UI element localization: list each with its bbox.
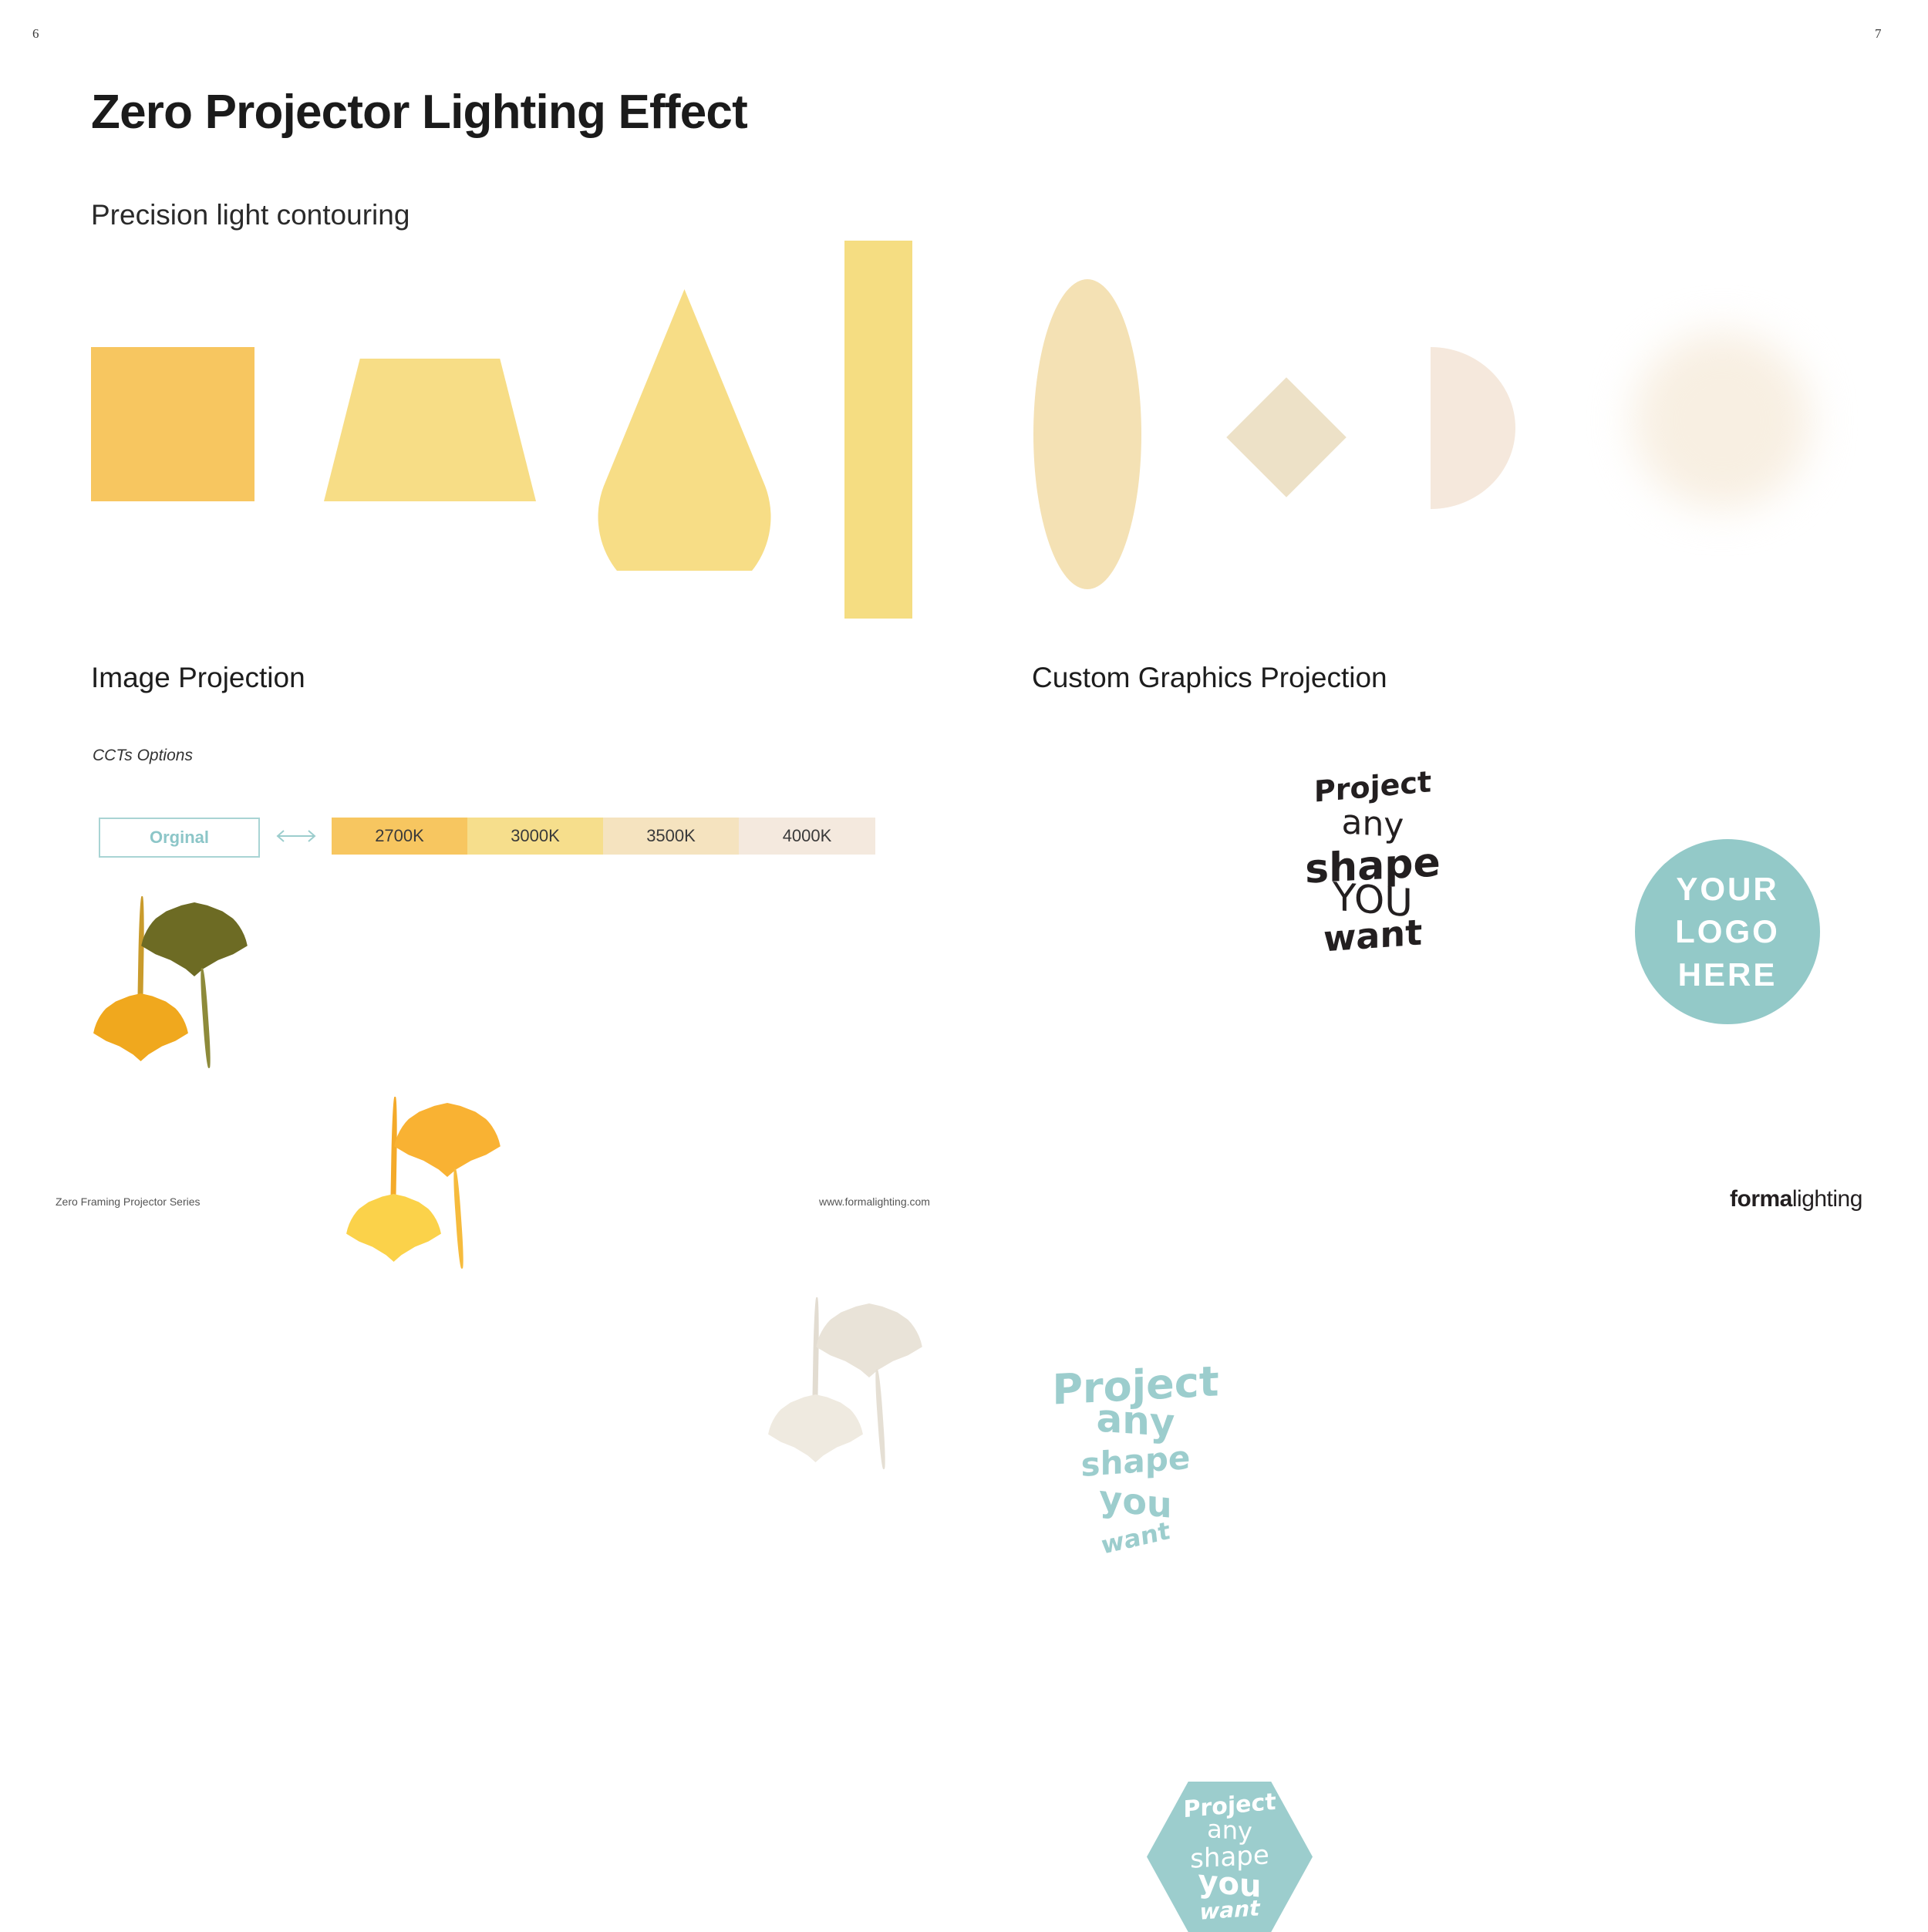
cct-option-label: 2700K	[375, 826, 424, 846]
cone-beam-shape	[598, 289, 771, 571]
projection-line-5: want	[1147, 1891, 1313, 1928]
soft-glow-beam-shape	[1633, 332, 1811, 509]
cct-option-label: 4000K	[783, 826, 832, 846]
footer-series-label: Zero Framing Projector Series	[56, 1195, 201, 1208]
leaf-lower-fan	[345, 1194, 442, 1262]
leaf-lower-fan	[767, 1394, 864, 1462]
bidirectional-arrow-icon	[266, 818, 326, 855]
leaf-sample-4000k	[767, 1296, 937, 1496]
cct-option-label: 3000K	[511, 826, 560, 846]
leaf-stem	[199, 968, 211, 1068]
vertical-bar-beam-shape	[844, 241, 912, 619]
leaf-sample-original	[93, 895, 262, 1095]
image-projection-heading: Image Projection	[91, 662, 305, 694]
logo-placeholder-line-1: YOUR	[1676, 868, 1778, 910]
page-number-right: 7	[1875, 26, 1882, 42]
page-number-left: 6	[32, 26, 39, 42]
original-option-button[interactable]: Orginal	[99, 818, 260, 858]
brand-logo-light: lighting	[1792, 1186, 1862, 1212]
leaf-upper-fan	[140, 902, 248, 976]
ellipse-beam-shape	[1033, 279, 1141, 589]
footer-website-label: www.formalighting.com	[819, 1195, 930, 1208]
ccts-options-label: CCTs Options	[93, 747, 193, 765]
leaf-stem	[452, 1168, 464, 1269]
page-title: Zero Projector Lighting Effect	[91, 85, 747, 140]
page-subtitle: Precision light contouring	[91, 199, 410, 231]
brand-logo: formalighting	[1730, 1186, 1862, 1212]
cct-option-2700k[interactable]: 2700K	[332, 818, 467, 855]
leaf-sample-2700k	[345, 1095, 515, 1296]
diamond-beam-shape	[1226, 377, 1347, 497]
cct-option-label: 3500K	[646, 826, 696, 846]
logo-placeholder-circle: YOUR LOGO HERE	[1635, 839, 1820, 1024]
cct-option-3000k[interactable]: 3000K	[467, 818, 603, 855]
square-beam-shape	[91, 347, 254, 501]
cct-option-3500k[interactable]: 3500K	[603, 818, 739, 855]
brand-logo-bold: forma	[1730, 1186, 1792, 1212]
cct-options-bar[interactable]: 2700K 3000K 3500K 4000K	[332, 818, 875, 855]
hexagon-projection-graphic: Project any shape you want	[1147, 1782, 1313, 1932]
leaf-stem	[874, 1369, 886, 1469]
trapezoid-beam-shape	[324, 359, 536, 501]
leaf-lower-fan	[93, 993, 189, 1061]
leaf-upper-fan	[815, 1303, 923, 1377]
half-circle-beam-shape	[1431, 347, 1515, 509]
cct-option-4000k[interactable]: 4000K	[739, 818, 875, 855]
original-option-label: Orginal	[150, 828, 209, 848]
circle-projection-graphic: Project any shape you want	[1276, 762, 1469, 955]
logo-placeholder-line-3: HERE	[1678, 953, 1778, 996]
logo-placeholder-line-2: LOGO	[1675, 910, 1780, 953]
leaf-upper-fan	[393, 1103, 501, 1177]
triangle-projection-graphic: Project any shape you want	[1037, 1361, 1234, 1577]
custom-graphics-heading: Custom Graphics Projection	[1032, 662, 1387, 694]
